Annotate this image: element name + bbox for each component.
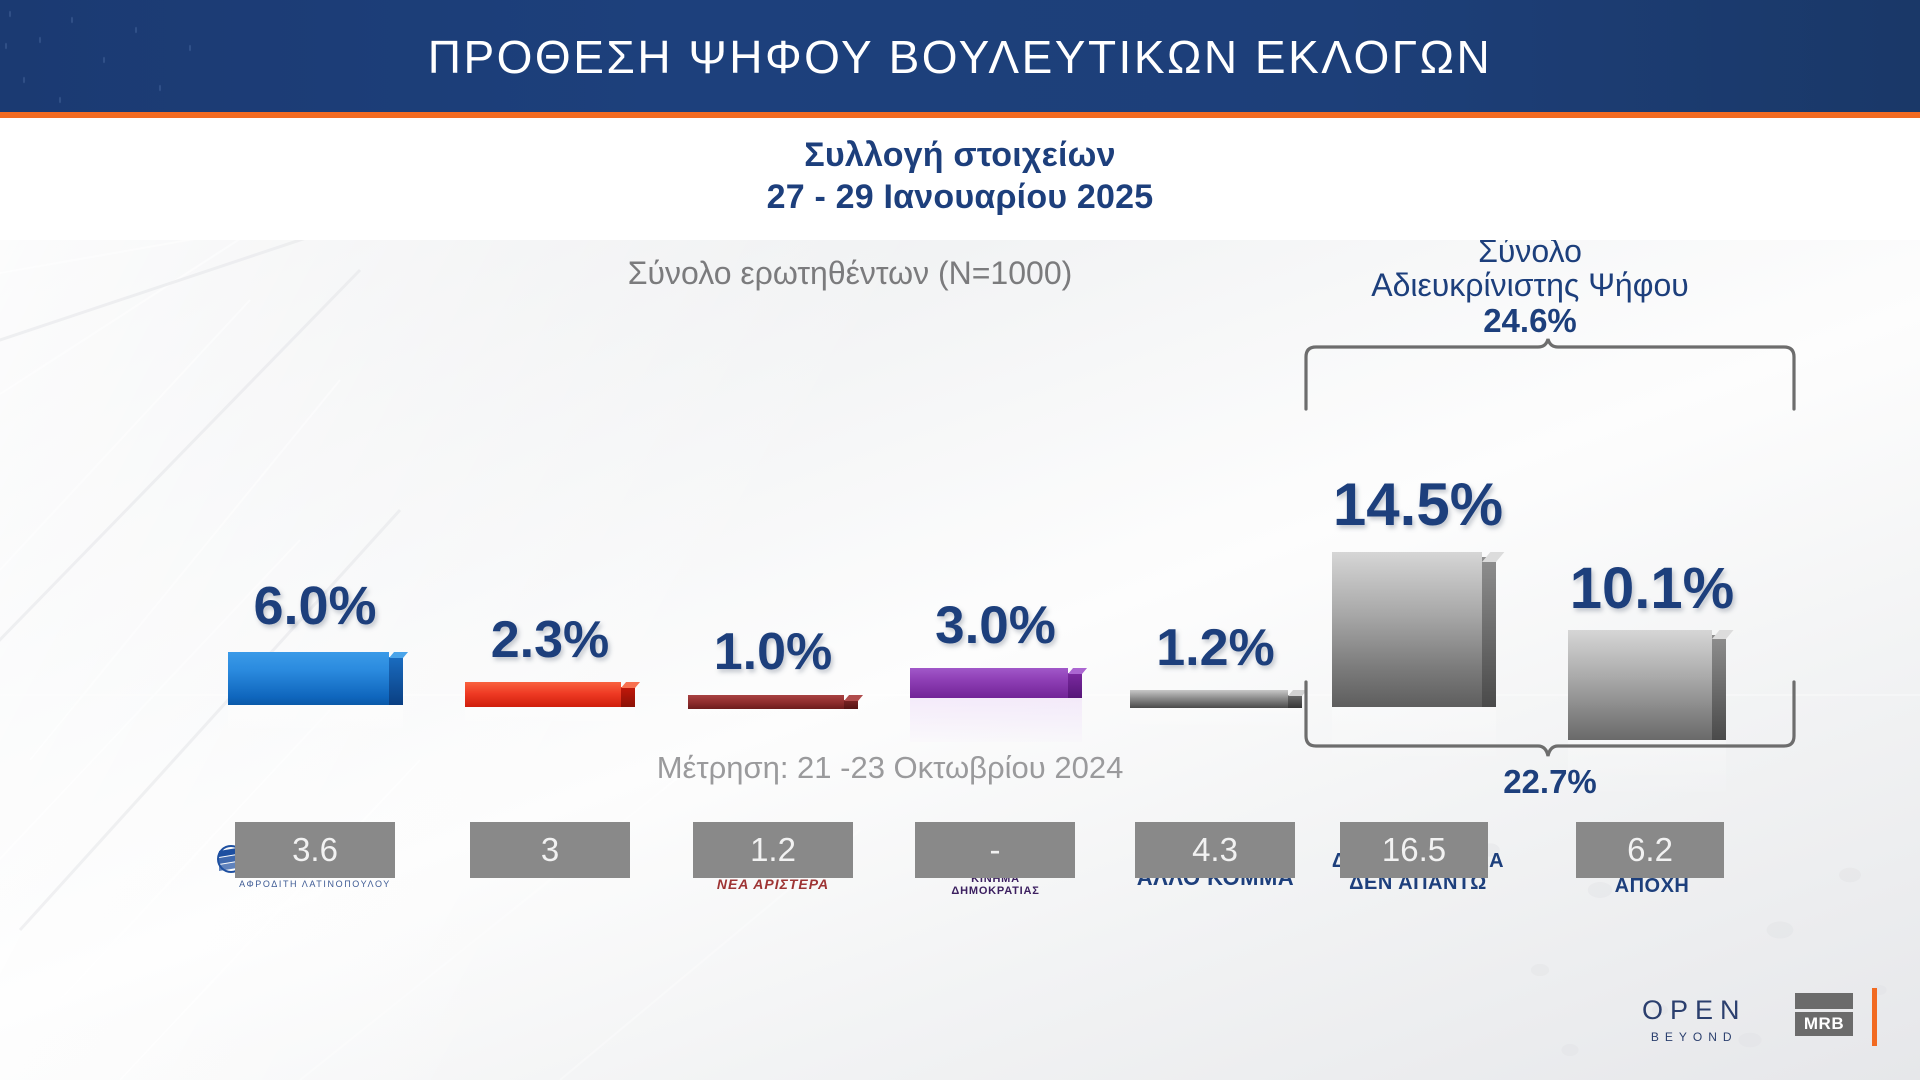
mrb-logo-bar	[1795, 993, 1853, 1009]
undecided-bottom-bracket	[1300, 680, 1800, 760]
beyond-logo-text: BEYOND	[1642, 1030, 1747, 1044]
page-title: ΠΡΟΘΕΣΗ ΨΗΦΟΥ ΒΟΥΛΕΥΤΙΚΩΝ ΕΚΛΟΓΩΝ	[0, 30, 1920, 84]
bar-allo-komma	[1130, 690, 1302, 708]
open-beyond-logo: OPEN BEYOND	[1642, 995, 1747, 1044]
mrb-logo-text: MRB	[1804, 1014, 1844, 1034]
bar-column-kinima-dimokratias: 3.0% ΚΙΝΗΜΑ ΔΗΜΟΚΡΑΤΙΑΣ -	[898, 240, 1093, 1080]
party-subtitle-foni-logikis: ΑΦΡΟΔΙΤΗ ΛΑΤΙΝΟΠΟΥΛΟΥ	[215, 879, 415, 889]
previous-poll-note: Μέτρηση: 21 -23 Οκτωβρίου 2024	[560, 750, 1220, 786]
bar-foni-logikis	[228, 652, 403, 705]
subtitle-date-range: 27 - 29 Ιανουαρίου 2025	[0, 178, 1920, 217]
party-name-nea-aristera: ΝΕΑ ΑΡΙΣΤΕΡΑ	[678, 876, 868, 892]
poll-infographic: ΠΡΟΘΕΣΗ ΨΗΦΟΥ ΒΟΥΛΕΥΤΙΚΩΝ ΕΚΛΟΓΩΝ Συλλογ…	[0, 0, 1920, 1080]
party-subtitle-kinima-dimokratias: ΔΗΜΟΚΡΑΤΙΑΣ	[898, 885, 1093, 897]
prev-value-allo-komma: 4.3	[1135, 822, 1295, 878]
prev-value-foni-logikis: 3.6	[235, 822, 395, 878]
prev-value-kinima-dimokratias: -	[915, 822, 1075, 878]
prev-value-den-apofasisa: 16.5	[1340, 822, 1488, 878]
footer-orange-tick	[1872, 988, 1877, 1046]
subtitle-zone: Συλλογή στοιχείων 27 - 29 Ιανουαρίου 202…	[0, 118, 1920, 240]
bar-mera25	[465, 682, 635, 707]
bar-column-foni-logikis: 6.0% ΦΩΝΗ ΛΟΓΙΚΗΣ	[215, 240, 415, 1080]
bar-value-allo-komma: 1.2%	[1118, 618, 1313, 678]
prev-value-lefko-akyro-apochi: 6.2	[1576, 822, 1724, 878]
header-band: ΠΡΟΘΕΣΗ ΨΗΦΟΥ ΒΟΥΛΕΥΤΙΚΩΝ ΕΚΛΟΓΩΝ	[0, 0, 1920, 112]
bar-value-foni-logikis: 6.0%	[215, 575, 415, 637]
bar-column-mera25: 2.3% ΜέΡΑ25 3	[455, 240, 645, 1080]
mrb-logo: MRB	[1795, 993, 1853, 1036]
bar-nea-aristera	[688, 695, 858, 709]
subtitle-collection-label: Συλλογή στοιχείων	[0, 136, 1920, 175]
undecided-top-bracket	[1300, 335, 1800, 415]
previous-undecided-total: 22.7%	[1420, 763, 1680, 801]
prev-value-mera25: 3	[470, 822, 630, 878]
open-logo-text: OPEN	[1642, 995, 1747, 1026]
chart-panel: Σύνολο ερωτηθέντων (N=1000) Σύνολο Αδιευ…	[0, 240, 1920, 1080]
mrb-logo-box: MRB	[1795, 1012, 1853, 1036]
bar-column-allo-komma: 1.2% ΑΛΛΟ ΚΟΜΜΑ 4.3	[1118, 240, 1313, 1080]
label-lefko-line3: ΑΠΟΧΗ	[1552, 875, 1752, 897]
bar-value-den-apofasisa: 14.5%	[1318, 470, 1518, 539]
bar-value-kinima-dimokratias: 3.0%	[898, 595, 1093, 656]
bar-value-mera25: 2.3%	[455, 610, 645, 670]
bar-value-lefko-akyro-apochi: 10.1%	[1552, 555, 1752, 622]
prev-value-nea-aristera: 1.2	[693, 822, 853, 878]
bar-column-nea-aristera: 1.0% ΝΕΑ ΑΡΙΣΤΕΡΑ 1.2	[678, 240, 868, 1080]
bar-kinima-dimokratias	[910, 668, 1082, 698]
bar-value-nea-aristera: 1.0%	[678, 622, 868, 682]
